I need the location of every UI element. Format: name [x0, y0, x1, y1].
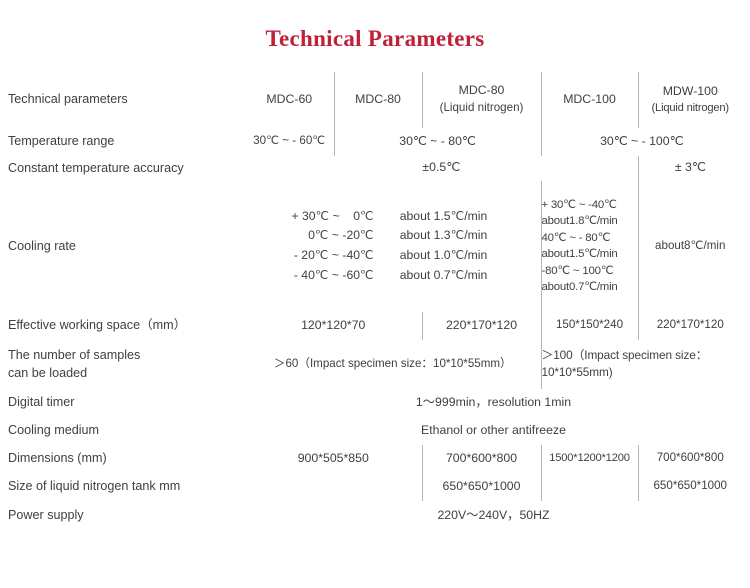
- header-model-mdw-100-sub: (Liquid nitrogen): [639, 100, 743, 116]
- header-model-mdc-60: MDC-60: [245, 72, 334, 128]
- cooling-rate-range: - 40℃ ~ -60℃: [266, 266, 400, 286]
- cell-dimensions-mdw-100: 700*600*800: [638, 445, 742, 473]
- cell-cooling-rate-mdc-100: + 30℃ ~ -40℃ about1.8℃/min 40℃ ~ - 80℃ a…: [541, 181, 638, 312]
- row-gap: [238, 340, 245, 389]
- cooling-rate-line: - 20℃ ~ -40℃ about 1.0℃/min: [266, 246, 520, 266]
- row-working-space: Effective working space（mm） 120*120*70 2…: [8, 312, 742, 340]
- cell-accuracy-right: ± 3℃: [638, 156, 742, 181]
- cell-samples-right: ＞100（Impact specimen size： 10*10*55mm): [541, 340, 742, 389]
- cell-temp-range-mdc-100-group: 30℃ ~ - 100℃: [541, 128, 742, 156]
- row-cooling-medium: Cooling medium Ethanol or other antifree…: [8, 417, 742, 445]
- row-gap: [238, 389, 245, 417]
- row-ln-tank: Size of liquid nitrogen tank mm 650*650*…: [8, 473, 742, 501]
- cell-working-space-mdw-100: 220*170*120: [638, 312, 742, 340]
- row-temperature-range: Temperature range 30℃ ~ - 60℃ 30℃ ~ - 80…: [8, 128, 742, 156]
- cell-cooling-rate-mdw-100: about8℃/min: [638, 181, 742, 312]
- cell-power-supply-value: 220V～240V，50HZ: [245, 501, 742, 531]
- cell-cooling-medium-value: Ethanol or other antifreeze: [245, 417, 742, 445]
- cell-cooling-rate-left: + 30℃ ~ 0℃ about 1.5℃/min 0℃ ~ -20℃ abou…: [245, 181, 541, 312]
- technical-parameters-table: Technical parameters MDC-60 MDC-80 MDC-8…: [8, 72, 742, 531]
- cooling-rate-line: + 30℃ ~ 0℃ about 1.5℃/min: [266, 207, 520, 227]
- cell-temp-range-mdc-80-group: 30℃ ~ - 80℃: [334, 128, 541, 156]
- cell-dimensions-mdc-100: 1500*1200*1200: [541, 445, 638, 473]
- row-accuracy: Constant temperature accuracy ±0.5℃ ± 3℃: [8, 156, 742, 181]
- header-model-mdw-100: MDW-100 (Liquid nitrogen): [638, 72, 742, 128]
- row-label-accuracy: Constant temperature accuracy: [8, 156, 238, 181]
- cooling-rate-value: about 0.7℃/min: [400, 266, 520, 286]
- cell-temp-range-mdc-60: 30℃ ~ - 60℃: [245, 128, 334, 156]
- cooling-rate-line: 0℃ ~ -20℃ about 1.3℃/min: [266, 226, 520, 246]
- cell-samples-right-line1: ＞100（Impact specimen size：: [542, 347, 743, 364]
- row-gap: [238, 181, 245, 312]
- row-label-ln-tank: Size of liquid nitrogen tank mm: [8, 473, 238, 501]
- cell-dimensions-mdc-80-ln: 700*600*800: [422, 445, 541, 473]
- row-label-digital-timer: Digital timer: [8, 389, 238, 417]
- row-label-samples-line2: can be loaded: [8, 364, 238, 382]
- page-title: Technical Parameters: [0, 0, 750, 61]
- cell-samples-left: ＞60（Impact specimen size：10*10*55mm）: [245, 340, 541, 389]
- header-model-mdc-80-name: MDC-80: [335, 91, 422, 109]
- row-gap: [238, 445, 245, 473]
- row-label-power-supply: Power supply: [8, 501, 238, 531]
- cooling-rate-mdc-100-line: -80℃ ~ 100℃: [542, 263, 638, 280]
- spec-sheet-page: Technical Parameters Technical parameter…: [0, 0, 750, 588]
- row-power-supply: Power supply 220V～240V，50HZ: [8, 501, 742, 531]
- cell-working-space-mdc-100: 150*150*240: [541, 312, 638, 340]
- row-gap: [238, 156, 245, 181]
- cooling-rate-mdc-100-line: 40℃ ~ - 80℃: [542, 230, 638, 247]
- cell-dimensions-mdc-60-80: 900*505*850: [245, 445, 422, 473]
- cooling-rate-value: about 1.3℃/min: [400, 226, 520, 246]
- row-samples: The number of samples can be loaded ＞60（…: [8, 340, 742, 389]
- cell-ln-tank-mdw-100: 650*650*1000: [638, 473, 742, 501]
- row-gap: [238, 417, 245, 445]
- row-gap: [238, 473, 245, 501]
- table-header-row: Technical parameters MDC-60 MDC-80 MDC-8…: [8, 72, 742, 128]
- cooling-rate-mdc-100-line: about1.5℃/min: [542, 246, 638, 263]
- header-model-mdc-60-name: MDC-60: [245, 91, 334, 109]
- cell-accuracy-left: ±0.5℃: [245, 156, 638, 181]
- row-label-working-space: Effective working space（mm）: [8, 312, 238, 340]
- header-model-mdc-80-ln-name: MDC-80: [423, 82, 541, 100]
- cooling-rate-mdc-100-line: about1.8℃/min: [542, 213, 638, 230]
- header-model-mdc-100: MDC-100: [541, 72, 638, 128]
- row-label-dimensions: Dimensions (mm): [8, 445, 238, 473]
- header-model-mdc-80: MDC-80: [334, 72, 422, 128]
- header-label-cell: Technical parameters: [8, 72, 238, 128]
- cell-working-space-mdc-60-80: 120*120*70: [245, 312, 422, 340]
- row-label-samples-line1: The number of samples: [8, 346, 238, 364]
- row-gap: [238, 128, 245, 156]
- cell-digital-timer-value: 1～999min，resolution 1min: [245, 389, 742, 417]
- header-model-mdc-80-ln-sub: (Liquid nitrogen): [423, 100, 541, 117]
- cell-working-space-mdc-80-ln: 220*170*120: [422, 312, 541, 340]
- cooling-rate-range: - 20℃ ~ -40℃: [266, 246, 400, 266]
- row-digital-timer: Digital timer 1～999min，resolution 1min: [8, 389, 742, 417]
- cooling-rate-value: about 1.5℃/min: [400, 207, 520, 227]
- header-model-mdc-80-ln: MDC-80 (Liquid nitrogen): [422, 72, 541, 128]
- table-container: Technical parameters MDC-60 MDC-80 MDC-8…: [0, 72, 750, 531]
- cell-ln-tank-mdc-60-80: [245, 473, 422, 501]
- cooling-rate-value: about 1.0℃/min: [400, 246, 520, 266]
- cooling-rate-line: - 40℃ ~ -60℃ about 0.7℃/min: [266, 266, 520, 286]
- cooling-rate-mdc-100-line: about0.7℃/min: [542, 279, 638, 296]
- row-label-samples: The number of samples can be loaded: [8, 340, 238, 389]
- cooling-rate-range: 0℃ ~ -20℃: [266, 226, 400, 246]
- row-gap: [238, 312, 245, 340]
- header-model-mdw-100-name: MDW-100: [639, 83, 743, 101]
- cell-samples-right-line2: 10*10*55mm): [542, 364, 743, 381]
- cell-ln-tank-mdc-80-ln: 650*650*1000: [422, 473, 541, 501]
- row-gap: [238, 501, 245, 531]
- row-cooling-rate: Cooling rate + 30℃ ~ 0℃ about 1.5℃/min 0…: [8, 181, 742, 312]
- row-dimensions: Dimensions (mm) 900*505*850 700*600*800 …: [8, 445, 742, 473]
- cooling-rate-range: + 30℃ ~ 0℃: [266, 207, 400, 227]
- row-label-cooling-rate: Cooling rate: [8, 181, 238, 312]
- row-label-temperature-range: Temperature range: [8, 128, 238, 156]
- cooling-rate-mdc-100-line: + 30℃ ~ -40℃: [542, 197, 638, 214]
- row-label-cooling-medium: Cooling medium: [8, 417, 238, 445]
- header-model-mdc-100-name: MDC-100: [542, 91, 638, 109]
- cell-ln-tank-mdc-100: [541, 473, 638, 501]
- header-gap: [238, 72, 245, 128]
- cooling-rate-list: + 30℃ ~ 0℃ about 1.5℃/min 0℃ ~ -20℃ abou…: [266, 207, 520, 286]
